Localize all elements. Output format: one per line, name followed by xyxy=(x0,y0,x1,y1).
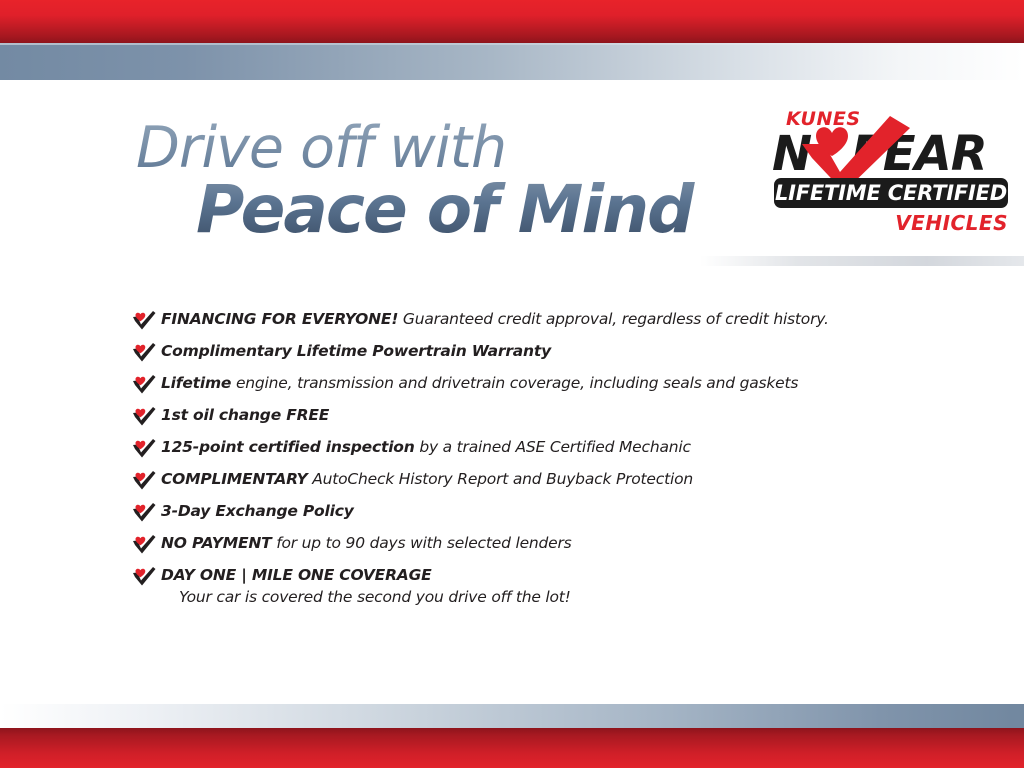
benefit-lead: DAY ONE | MILE ONE COVERAGE xyxy=(161,566,432,584)
benefit-text: Complimentary Lifetime Powertrain Warran… xyxy=(161,340,551,362)
checkmark-heart-icon xyxy=(132,438,156,458)
benefit-text: FINANCING FOR EVERYONE! Guaranteed credi… xyxy=(161,308,829,330)
checkmark-heart-icon xyxy=(132,502,156,522)
checkmark-heart-icon xyxy=(132,342,156,362)
benefit-text: 3-Day Exchange Policy xyxy=(161,500,354,522)
logo-wordmark-fear: FEAR xyxy=(851,126,987,182)
checkmark-heart-icon xyxy=(132,470,156,490)
benefit-item: DAY ONE | MILE ONE COVERAGEYour car is c… xyxy=(132,564,932,608)
headline-shelf-divider xyxy=(700,256,1024,266)
top-red-band xyxy=(0,0,1024,43)
logo-wordmark-nofear: NOFEAR xyxy=(772,126,987,182)
kunes-no-fear-logo: KUNES NOFEAR LIFETIME CERTIFIED VEHICLES xyxy=(768,108,1014,248)
benefit-item: Complimentary Lifetime Powertrain Warran… xyxy=(132,340,932,362)
benefit-item: NO PAYMENT for up to 90 days with select… xyxy=(132,532,932,554)
headline-line-1: Drive off with xyxy=(136,118,756,178)
benefit-detail: Guaranteed credit approval, regardless o… xyxy=(398,310,829,328)
benefit-item: 125-point certified inspection by a trai… xyxy=(132,436,932,458)
bottom-red-band xyxy=(0,728,1024,768)
benefit-item: COMPLIMENTARY AutoCheck History Report a… xyxy=(132,468,932,490)
top-steel-band xyxy=(0,43,1024,80)
headline-block: Drive off with Peace of Mind xyxy=(136,118,756,246)
benefit-text: 1st oil change FREE xyxy=(161,404,329,426)
benefit-item: FINANCING FOR EVERYONE! Guaranteed credi… xyxy=(132,308,932,330)
benefit-detail: engine, transmission and drivetrain cove… xyxy=(231,374,798,392)
checkmark-heart-icon xyxy=(132,534,156,554)
logo-lifetime-certified-text: LIFETIME CERTIFIED xyxy=(774,178,1008,208)
benefit-lead: COMPLIMENTARY xyxy=(161,470,307,488)
benefit-lead: Complimentary Lifetime Powertrain Warran… xyxy=(161,342,551,360)
headline-line-2: Peace of Mind xyxy=(136,174,756,246)
benefit-detail: AutoCheck History Report and Buyback Pro… xyxy=(307,470,693,488)
benefit-item: 3-Day Exchange Policy xyxy=(132,500,932,522)
benefit-item: Lifetime engine, transmission and drivet… xyxy=(132,372,932,394)
benefit-item: 1st oil change FREE xyxy=(132,404,932,426)
benefit-lead: 1st oil change FREE xyxy=(161,406,329,424)
checkmark-heart-icon xyxy=(132,374,156,394)
checkmark-heart-icon xyxy=(132,566,156,586)
benefits-list: FINANCING FOR EVERYONE! Guaranteed credi… xyxy=(132,308,932,618)
benefit-text: NO PAYMENT for up to 90 days with select… xyxy=(161,532,572,554)
logo-vehicles-text: VEHICLES xyxy=(895,211,1008,235)
benefit-lead: Lifetime xyxy=(161,374,231,392)
benefit-lead: 125-point certified inspection xyxy=(161,438,415,456)
logo-wordmark-n: N xyxy=(772,126,811,182)
benefit-lead: 3-Day Exchange Policy xyxy=(161,502,354,520)
bottom-steel-band xyxy=(0,704,1024,728)
checkmark-heart-icon xyxy=(132,406,156,426)
benefit-lead: FINANCING FOR EVERYONE! xyxy=(161,310,398,328)
benefit-detail: for up to 90 days with selected lenders xyxy=(271,534,571,552)
checkmark-heart-icon xyxy=(132,310,156,330)
benefit-text: Lifetime engine, transmission and drivet… xyxy=(161,372,798,394)
benefit-text: 125-point certified inspection by a trai… xyxy=(161,436,691,458)
benefit-text: COMPLIMENTARY AutoCheck History Report a… xyxy=(161,468,693,490)
benefit-lead: NO PAYMENT xyxy=(161,534,271,552)
benefit-text: DAY ONE | MILE ONE COVERAGEYour car is c… xyxy=(161,564,571,608)
benefit-detail: by a trained ASE Certified Mechanic xyxy=(415,438,691,456)
benefit-subtext: Your car is covered the second you drive… xyxy=(161,586,571,608)
logo-lifetime-certified-bar: LIFETIME CERTIFIED xyxy=(774,178,1008,208)
